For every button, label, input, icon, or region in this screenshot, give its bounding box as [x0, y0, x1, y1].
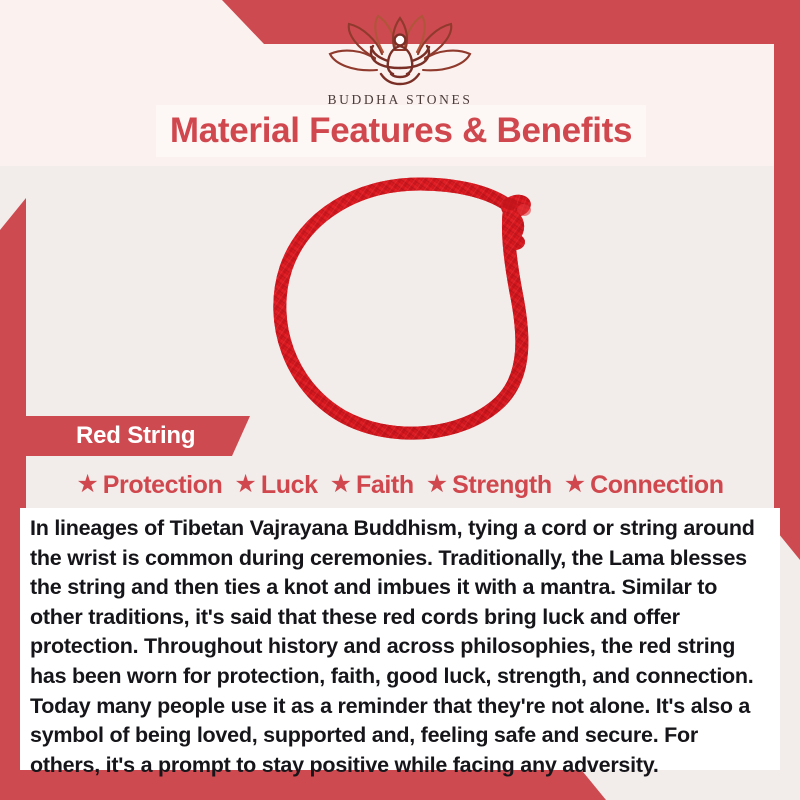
page-title: Material Features & Benefits — [170, 111, 632, 151]
feature-item-protection: ★ Protection — [72, 471, 226, 500]
feature-label: Luck — [261, 471, 318, 500]
description-text: In lineages of Tibetan Vajrayana Buddhis… — [30, 514, 766, 780]
feature-item-faith: ★ Faith — [326, 471, 418, 500]
feature-label: Protection — [103, 471, 223, 500]
star-icon: ★ — [234, 472, 256, 497]
star-icon: ★ — [426, 472, 448, 497]
feature-item-strength: ★ Strength — [422, 471, 556, 500]
material-label-band: Red String — [18, 416, 250, 456]
lotus-meditation-icon — [325, 14, 475, 90]
feature-item-luck: ★ Luck — [230, 471, 321, 500]
star-icon: ★ — [76, 472, 98, 497]
feature-label: Connection — [590, 471, 724, 500]
material-label: Red String — [76, 422, 195, 450]
title-banner: Material Features & Benefits — [156, 105, 646, 157]
feature-item-connection: ★ Connection — [560, 471, 728, 500]
feature-label: Strength — [452, 471, 552, 500]
feature-label: Faith — [356, 471, 414, 500]
decorative-stripe-right — [774, 40, 800, 560]
feature-list: ★ Protection ★ Luck ★ Faith ★ Strength ★… — [30, 466, 770, 504]
product-image-red-string-bracelet — [262, 172, 578, 448]
star-icon: ★ — [564, 472, 586, 497]
star-icon: ★ — [330, 472, 352, 497]
description-panel: In lineages of Tibetan Vajrayana Buddhis… — [20, 508, 780, 770]
brand-logo: BUDDHA STONES — [0, 14, 800, 108]
infographic-page: BUDDHA STONES Material Features & Benefi… — [0, 0, 800, 800]
